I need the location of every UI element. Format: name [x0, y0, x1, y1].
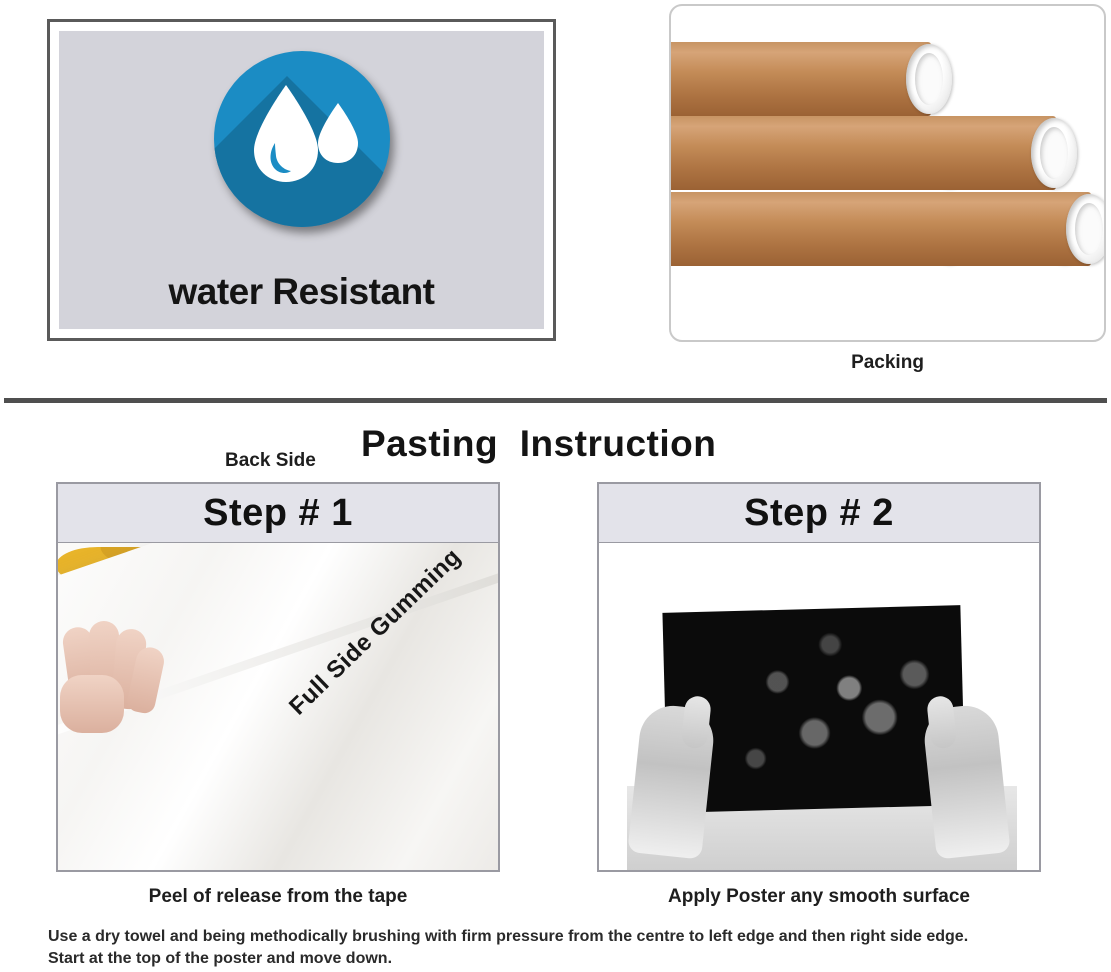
step-1-title: Step # 1 [203, 492, 353, 535]
step-2-title: Step # 2 [744, 492, 894, 535]
step-1-photo: Full Side Gumming [58, 543, 498, 870]
water-resistant-label: water Resistant [59, 271, 544, 313]
bottom-instruction-note: Use a dry towel and being methodically b… [48, 926, 1088, 969]
hand-right [921, 703, 1010, 860]
mailing-tube [931, 192, 1091, 266]
step-1-caption: Peel of release from the tape [56, 886, 500, 908]
water-drop-glyphs [214, 51, 390, 227]
step-2-photo [599, 543, 1039, 870]
step-1-panel: Step # 1 Full Side Gumming [56, 482, 500, 872]
step-2-header: Step # 2 [599, 484, 1039, 543]
thumb [681, 695, 712, 749]
step-2-panel: Step # 2 [597, 482, 1041, 872]
top-section: water Resistant Packing [0, 0, 1111, 400]
packing-photo-panel [669, 4, 1106, 342]
water-drop-icon [214, 51, 390, 227]
tube-cap [906, 44, 952, 114]
page-title: Pasting Instruction [361, 423, 716, 465]
mailing-tube [811, 116, 1056, 190]
back-side-label: Back Side [225, 450, 316, 472]
water-resistant-panel: water Resistant [47, 19, 556, 341]
section-divider [4, 398, 1107, 403]
tube-cap [1066, 194, 1106, 264]
packing-caption: Packing [669, 352, 1106, 374]
note-line-2: Start at the top of the poster and move … [48, 948, 1088, 970]
hand-left [627, 703, 716, 860]
mailing-tubes-illustration [671, 6, 1104, 340]
tube-cap [1031, 118, 1077, 188]
note-line-1: Use a dry towel and being methodically b… [48, 926, 1088, 948]
step-2-caption: Apply Poster any smooth surface [597, 886, 1041, 908]
mailing-tube [669, 42, 931, 116]
hand [66, 621, 162, 733]
water-resistant-panel-inner: water Resistant [59, 31, 544, 329]
step-1-header: Step # 1 [58, 484, 498, 543]
